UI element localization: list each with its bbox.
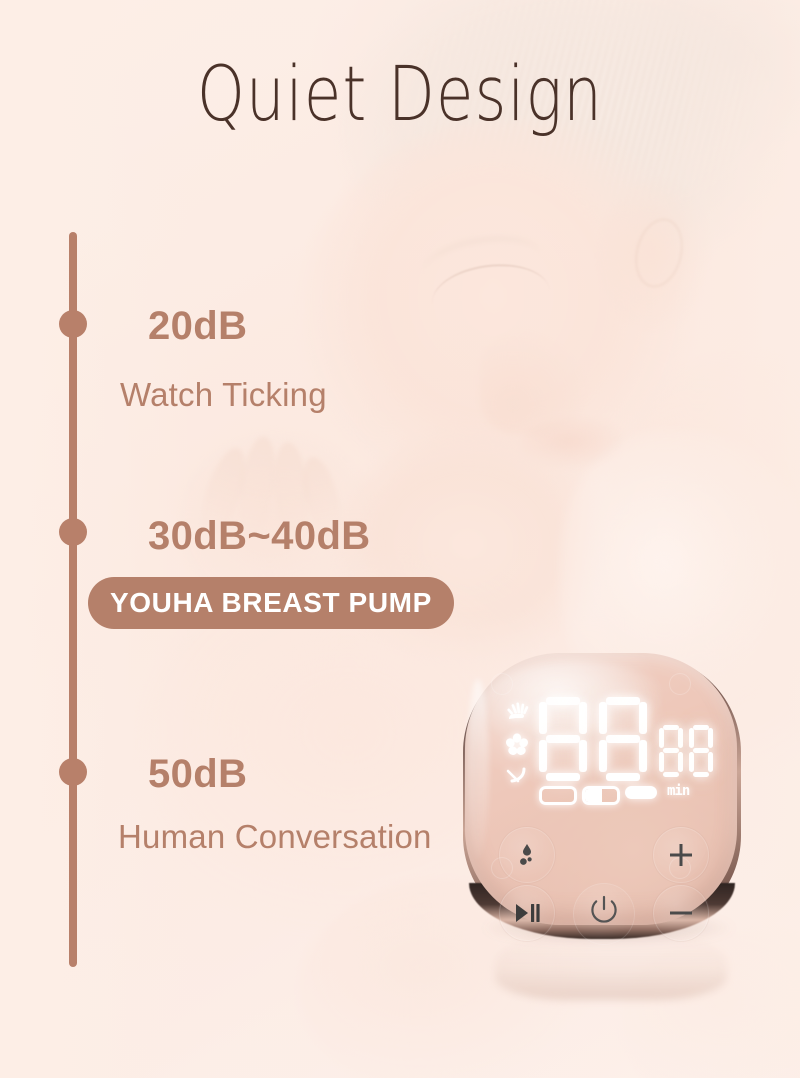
level-bar-group xyxy=(539,786,661,799)
noise-scale-timeline xyxy=(62,232,84,967)
minute-digit-tens xyxy=(659,725,683,777)
power-button[interactable] xyxy=(573,883,635,945)
timeline-marker-50db xyxy=(59,758,87,786)
brand-badge: YOUHA BREAST PUMP xyxy=(88,577,454,629)
plus-icon xyxy=(667,841,695,869)
mode-indicator-group xyxy=(503,701,533,789)
flower-icon xyxy=(503,733,531,757)
digit-tens xyxy=(539,697,587,781)
noise-level-caption-1: Watch Ticking xyxy=(120,378,327,411)
quiet-design-poster: Quiet Design 20dB Watch Ticking 30dB~40d… xyxy=(0,0,800,1078)
level-bar-3 xyxy=(625,786,657,799)
massage-hand-icon xyxy=(503,701,531,725)
secondary-digits xyxy=(659,725,715,781)
page-title: Quiet Design xyxy=(80,56,720,132)
power-icon xyxy=(583,893,625,935)
sprout-icon xyxy=(503,765,531,789)
device-edge-highlight xyxy=(467,679,489,859)
milk-drop-icon xyxy=(517,843,537,867)
main-digits xyxy=(539,697,649,781)
breast-pump-device: min xyxy=(455,645,765,980)
play-pause-icon xyxy=(514,903,540,923)
minus-icon xyxy=(667,899,695,927)
noise-level-value-3: 50dB xyxy=(148,754,247,794)
increase-button[interactable] xyxy=(653,827,709,883)
digit-ones xyxy=(599,697,647,781)
milk-drop-button[interactable] xyxy=(499,827,555,883)
noise-level-caption-3: Human Conversation xyxy=(118,820,432,853)
noise-level-value-2: 30dB~40dB xyxy=(148,516,371,556)
level-bar-1 xyxy=(539,786,577,805)
timeline-axis-line xyxy=(69,232,77,967)
level-bar-2 xyxy=(582,786,620,805)
decrease-button[interactable] xyxy=(653,885,709,941)
minute-digit-ones xyxy=(689,725,713,777)
panel-corner-ring xyxy=(669,673,691,695)
timeline-marker-20db xyxy=(59,310,87,338)
timeline-marker-30-40db xyxy=(59,518,87,546)
noise-level-value-1: 20dB xyxy=(148,306,247,346)
panel-corner-ring xyxy=(491,673,513,695)
led-display: min xyxy=(503,697,703,795)
minutes-unit-label: min xyxy=(667,783,689,799)
play-pause-button[interactable] xyxy=(499,885,555,941)
